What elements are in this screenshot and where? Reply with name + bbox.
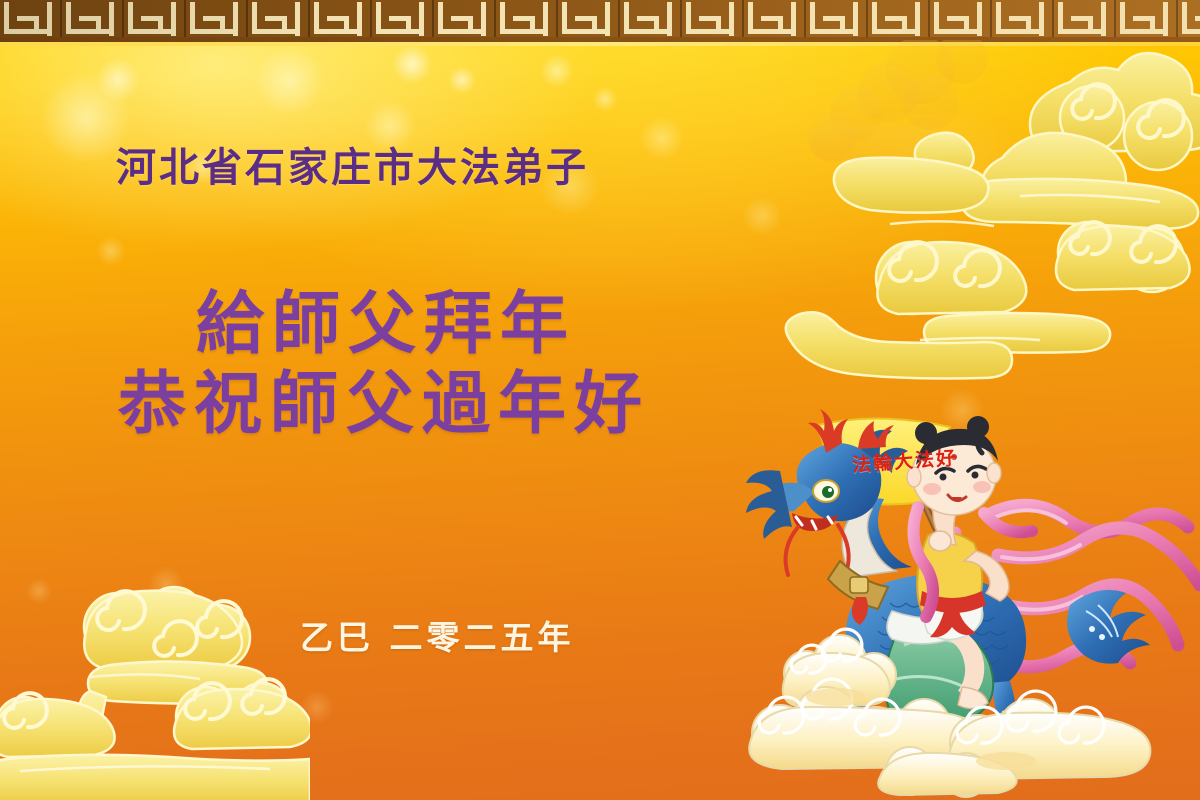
meander-pattern [0, 0, 1200, 42]
bokeh-light [254, 46, 324, 116]
banner-text: 法輪大法好 [851, 442, 981, 478]
bokeh-light [96, 236, 126, 266]
banner-flag: 法輪大法好 [816, 418, 1016, 528]
bokeh-light [96, 58, 140, 102]
bokeh-light [540, 54, 574, 88]
page-title-region: 河北省石家庄市大法弟子 [116, 135, 589, 193]
meander-border-top [0, 0, 1200, 42]
date-text: 乙巳 二零二五年 [300, 611, 575, 659]
greeting-line-2: 恭祝師父過年好 [118, 348, 650, 447]
cloud-top-right-icon [770, 40, 1200, 380]
bokeh-light [392, 44, 432, 84]
bokeh-light [640, 116, 684, 160]
bokeh-light [592, 86, 618, 112]
new-year-greeting-card: 河北省石家庄市大法弟子 給師父拜年 恭祝師父過年好 乙巳 二零二五年 [0, 0, 1200, 800]
cloud-bottom-left-icon [0, 565, 310, 800]
bokeh-light [448, 66, 476, 94]
